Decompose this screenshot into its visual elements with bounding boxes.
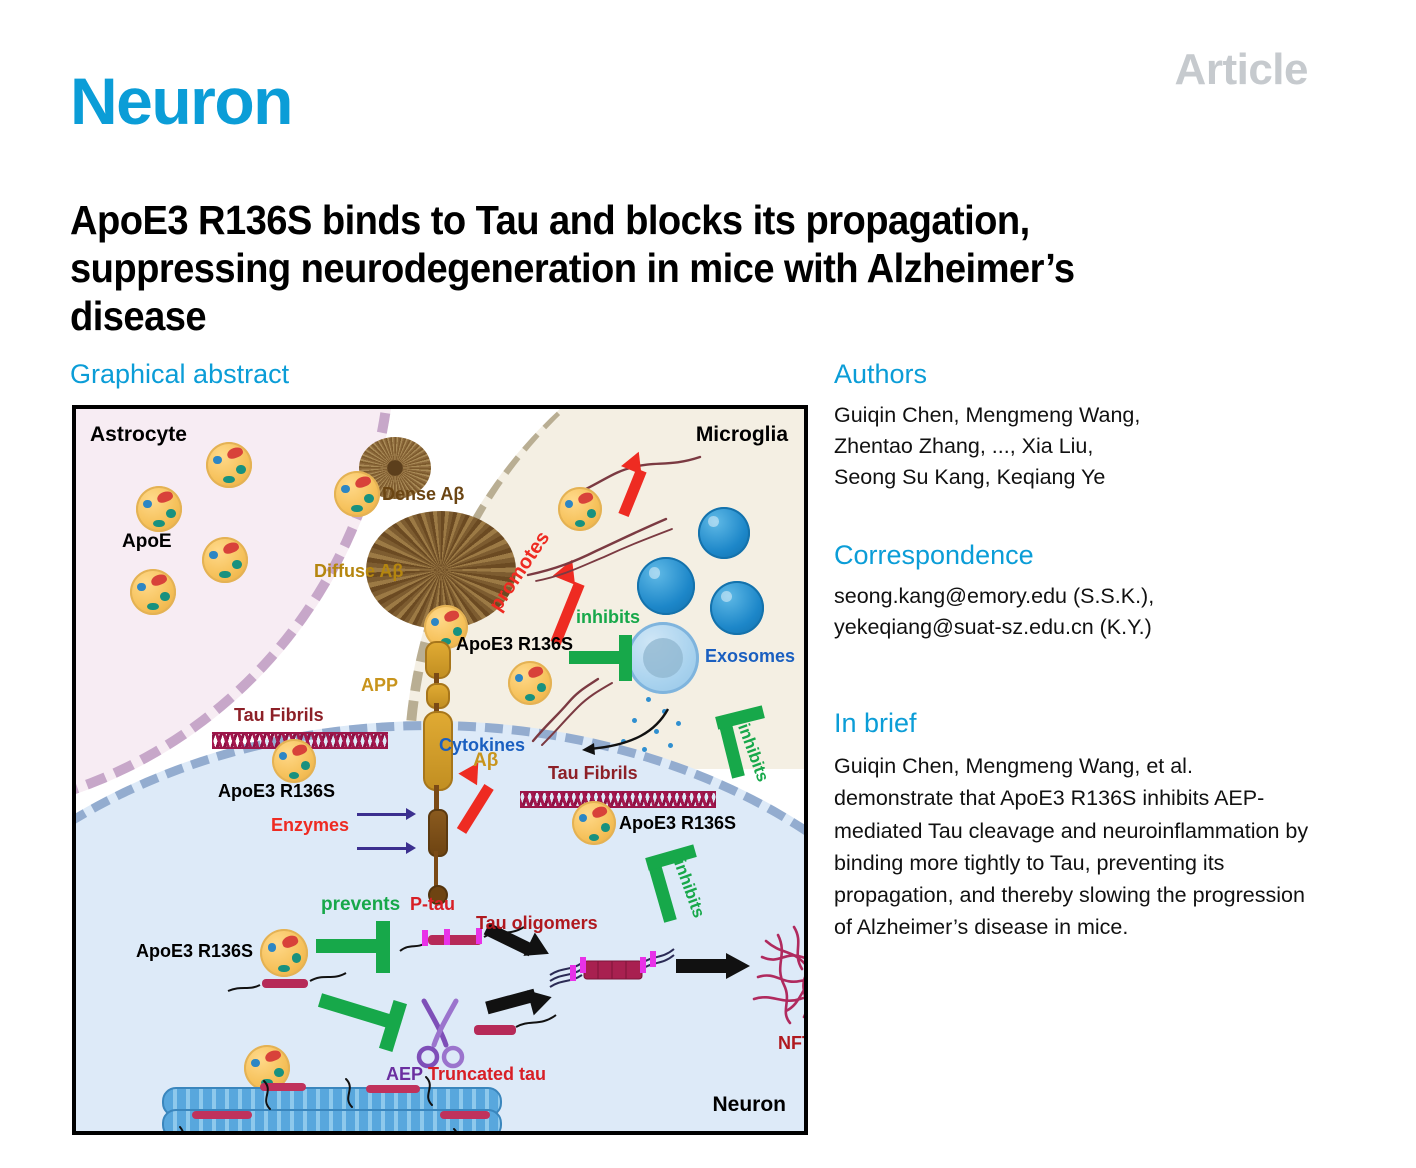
apoe3-r136s-label-left: ApoE3 R136S — [218, 781, 335, 802]
apoe-particle — [206, 442, 252, 488]
inhibits-exosomes-arrow — [569, 635, 635, 681]
enzyme-arrow-head — [406, 842, 416, 854]
tau-fibrils-label-right: Tau Fibrils — [548, 763, 638, 784]
correspondence-heading: Correspondence — [834, 541, 1034, 571]
authors-heading: Authors — [834, 360, 927, 390]
exosome — [710, 581, 764, 635]
enzymes-label: Enzymes — [271, 815, 349, 836]
exosome — [637, 557, 695, 615]
page-title: ApoE3 R136S binds to Tau and blocks its … — [70, 197, 1167, 341]
in-brief-text: Guiqin Chen, Mengmeng Wang, et al. demon… — [834, 750, 1314, 944]
app-segment — [428, 809, 448, 857]
cytokine-dot — [646, 697, 651, 702]
enzyme-arrow-head — [406, 808, 416, 820]
apoe3-r136s-particle — [272, 739, 316, 783]
nft-formation-arrow — [676, 959, 730, 973]
authors-list: Guiqin Chen, Mengmeng Wang, Zhentao Zhan… — [834, 400, 1314, 493]
cytokine-arrow — [564, 705, 674, 763]
graphical-abstract-figure: Astrocyte Microglia Neuron ApoE Dense Aβ… — [72, 405, 808, 1135]
exosomes-label: Exosomes — [705, 646, 795, 667]
exosome — [698, 507, 750, 559]
apoe3-r136s-particle — [572, 801, 616, 845]
p-tau-label: P-tau — [410, 894, 455, 915]
exosome-large — [627, 622, 699, 694]
microglia-label: Microglia — [696, 423, 788, 447]
graphical-abstract-heading: Graphical abstract — [70, 360, 289, 390]
article-type-label: Article — [1175, 48, 1308, 92]
prevents-arrow — [316, 921, 398, 973]
nfts-label: NFTs — [778, 1033, 804, 1054]
tau-oligomers-label: Tau oligomers — [476, 913, 598, 934]
astrocyte-label: Astrocyte — [90, 423, 187, 447]
apoe-label: ApoE — [122, 531, 172, 553]
tau-fibrils-label-left: Tau Fibrils — [234, 705, 324, 726]
apoe-particle — [136, 486, 182, 532]
tau-tails — [156, 1061, 516, 1131]
prevents-label: prevents — [321, 894, 400, 916]
apoe3-r136s-label-mid: ApoE3 R136S — [456, 634, 573, 655]
apoe-particle — [202, 537, 248, 583]
author-line: Zhentao Zhang, ..., Xia Liu, — [834, 431, 1314, 462]
inhibits-exosomes-label: inhibits — [576, 607, 640, 628]
aep-scissors-icon — [412, 995, 468, 1069]
apoe3-r136s-label-neuron: ApoE3 R136S — [136, 941, 253, 962]
author-line: Seong Su Kang, Keqiang Ye — [834, 462, 1314, 493]
diffuse-abeta-label: Diffuse Aβ — [314, 561, 403, 582]
apoe3-r136s-particle — [558, 487, 602, 531]
nft-tangle — [748, 921, 804, 1031]
dense-abeta-label: Dense Aβ — [382, 484, 464, 505]
correspondence-email-line[interactable]: seong.kang@emory.edu (S.S.K.), — [834, 581, 1314, 612]
cytokine-dot — [676, 721, 681, 726]
prevents-aep-arrow — [320, 987, 412, 1047]
in-brief-heading: In brief — [834, 709, 917, 739]
author-line: Guiqin Chen, Mengmeng Wang, — [834, 400, 1314, 431]
truncated-tau-molecule — [472, 1009, 592, 1045]
neuron-label: Neuron — [713, 1093, 787, 1117]
apoe-particle — [334, 471, 380, 517]
cytokines-label: Cytokines — [439, 735, 525, 756]
tau-fibril — [520, 791, 716, 808]
correspondence-list: seong.kang@emory.edu (S.S.K.), yekeqiang… — [834, 581, 1314, 643]
apoe-particle — [130, 569, 176, 615]
app-label: APP — [361, 675, 398, 696]
enzyme-arrow — [357, 847, 409, 850]
apoe3-r136s-label-right: ApoE3 R136S — [619, 813, 736, 834]
journal-logo: Neuron — [70, 68, 292, 134]
tau-oligomer-molecule — [548, 943, 678, 997]
enzyme-arrow — [357, 813, 409, 816]
correspondence-email-line[interactable]: yekeqiang@suat-sz.edu.cn (K.Y.) — [834, 612, 1314, 643]
app-stem — [434, 851, 438, 889]
nft-formation-arrow-head — [726, 953, 750, 979]
